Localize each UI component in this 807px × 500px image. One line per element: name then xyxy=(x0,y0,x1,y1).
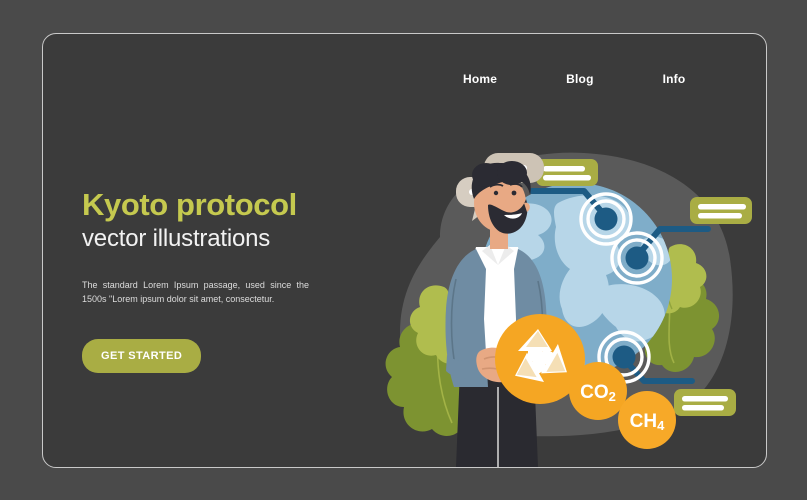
info-card-1[interactable] xyxy=(536,159,598,186)
nav-item-blog[interactable]: Blog xyxy=(566,72,593,86)
gas-badge-co2[interactable]: CO2 xyxy=(569,362,627,420)
landing-card: Home Blog Info Kyoto protocol vector ill… xyxy=(42,33,767,468)
get-started-button[interactable]: GET STARTED xyxy=(82,339,201,373)
hero-paragraph: The standard Lorem Ipsum passage, used s… xyxy=(82,279,309,307)
top-navigation: Home Blog Info xyxy=(463,72,685,86)
page-root: Home Blog Info Kyoto protocol vector ill… xyxy=(0,0,807,500)
page-subtitle: vector illustrations xyxy=(82,226,372,253)
page-title: Kyoto protocol xyxy=(82,189,372,222)
info-card-2[interactable] xyxy=(690,197,752,224)
gas-badge-ch4[interactable]: CH4 xyxy=(618,391,676,449)
nav-item-info[interactable]: Info xyxy=(663,72,686,86)
info-card-3[interactable] xyxy=(674,389,736,416)
nav-item-home[interactable]: Home xyxy=(463,72,497,86)
kyoto-protocol-illustration: CO2 CH4 xyxy=(348,119,767,467)
hero-copy: Kyoto protocol vector illustrations The … xyxy=(82,189,372,373)
location-marker-2[interactable] xyxy=(612,233,662,283)
